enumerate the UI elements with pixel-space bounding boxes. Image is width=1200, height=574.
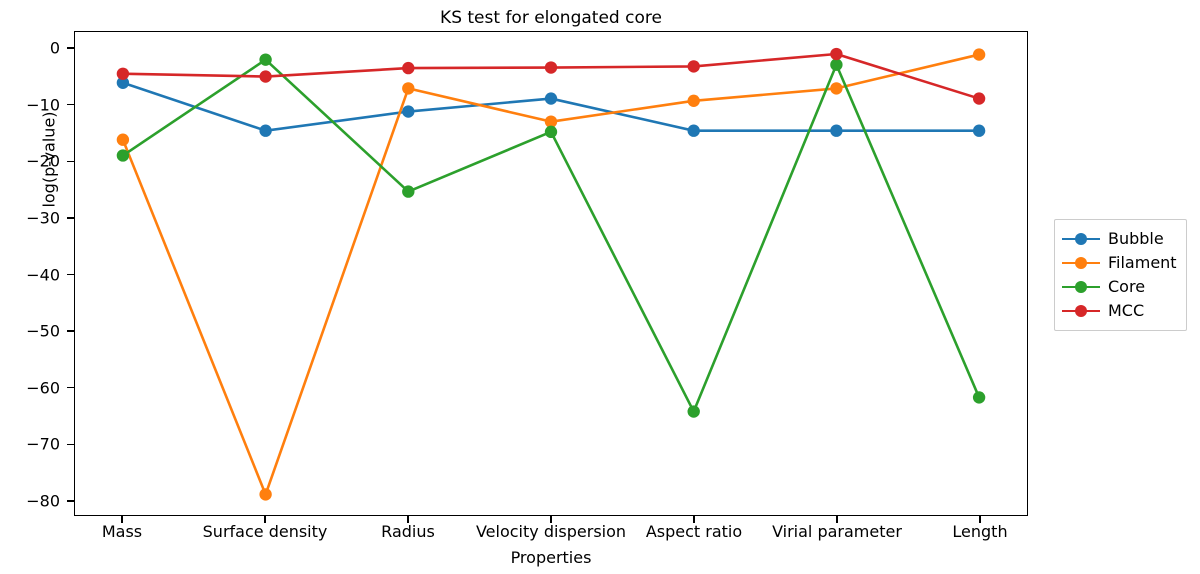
data-point — [117, 134, 129, 146]
x-tick-label: Virial parameter — [772, 522, 902, 541]
data-point — [545, 61, 557, 73]
y-tick-mark — [67, 104, 74, 105]
legend-item-core[interactable]: Core — [1062, 275, 1177, 299]
data-point — [402, 185, 414, 197]
x-tick-label: Radius — [381, 522, 435, 541]
x-tick-mark — [979, 516, 980, 523]
x-tick-mark — [264, 516, 265, 523]
y-tick-label: −50 — [4, 322, 60, 341]
data-point — [402, 62, 414, 74]
data-point — [830, 48, 842, 60]
legend-label: Filament — [1108, 255, 1177, 271]
legend-label: Bubble — [1108, 231, 1164, 247]
series-filament — [117, 48, 986, 500]
figure: KS test for elongated core log(p-value) … — [0, 0, 1200, 574]
legend-item-bubble[interactable]: Bubble — [1062, 227, 1177, 251]
y-tick-mark — [67, 47, 74, 48]
x-axis-label: Properties — [74, 548, 1028, 567]
x-tick-label: Velocity dispersion — [476, 522, 626, 541]
y-tick-mark — [67, 217, 74, 218]
data-point — [117, 68, 129, 80]
series-line — [123, 60, 979, 412]
x-tick-label: Mass — [102, 522, 142, 541]
y-tick-mark — [67, 274, 74, 275]
series-line — [123, 54, 979, 99]
data-point — [402, 82, 414, 94]
y-tick-label: −20 — [4, 152, 60, 171]
legend-marker-icon — [1062, 232, 1100, 246]
y-tick-mark — [67, 161, 74, 162]
y-tick-label: −30 — [4, 208, 60, 227]
data-point — [973, 125, 985, 137]
y-tick-label: −40 — [4, 265, 60, 284]
data-point — [259, 125, 271, 137]
y-tick-mark — [67, 387, 74, 388]
chart-title: KS test for elongated core — [74, 8, 1028, 28]
data-point — [688, 95, 700, 107]
legend-item-filament[interactable]: Filament — [1062, 251, 1177, 275]
data-point — [830, 82, 842, 94]
data-point — [973, 48, 985, 60]
y-tick-label: −10 — [4, 95, 60, 114]
data-point — [830, 59, 842, 71]
data-point — [688, 60, 700, 72]
x-tick-label: Length — [952, 522, 1007, 541]
x-tick-mark — [836, 516, 837, 523]
legend: BubbleFilamentCoreMCC — [1054, 219, 1187, 331]
legend-marker-icon — [1062, 256, 1100, 270]
y-tick-mark — [67, 500, 74, 501]
data-point — [259, 488, 271, 500]
data-point — [545, 92, 557, 104]
plot-area — [74, 31, 1028, 516]
x-tick-mark — [407, 516, 408, 523]
y-tick-mark — [67, 330, 74, 331]
x-tick-label: Surface density — [203, 522, 328, 541]
x-tick-mark — [121, 516, 122, 523]
data-point — [259, 70, 271, 82]
y-tick-label: −60 — [4, 378, 60, 397]
legend-label: MCC — [1108, 303, 1144, 319]
data-point — [402, 105, 414, 117]
data-point — [973, 391, 985, 403]
data-point — [545, 126, 557, 138]
data-point — [688, 125, 700, 137]
y-tick-mark — [67, 444, 74, 445]
series-lines — [75, 32, 1027, 515]
y-tick-label: −70 — [4, 435, 60, 454]
x-tick-mark — [550, 516, 551, 523]
legend-label: Core — [1108, 279, 1145, 295]
data-point — [117, 149, 129, 161]
data-point — [830, 125, 842, 137]
series-core — [117, 53, 986, 417]
x-tick-mark — [693, 516, 694, 523]
legend-marker-icon — [1062, 304, 1100, 318]
y-tick-label: −80 — [4, 492, 60, 511]
y-tick-label: 0 — [4, 39, 60, 58]
x-tick-label: Aspect ratio — [646, 522, 742, 541]
data-point — [259, 53, 271, 65]
data-point — [688, 405, 700, 417]
legend-item-mcc[interactable]: MCC — [1062, 299, 1177, 323]
data-point — [973, 92, 985, 104]
legend-marker-icon — [1062, 280, 1100, 294]
